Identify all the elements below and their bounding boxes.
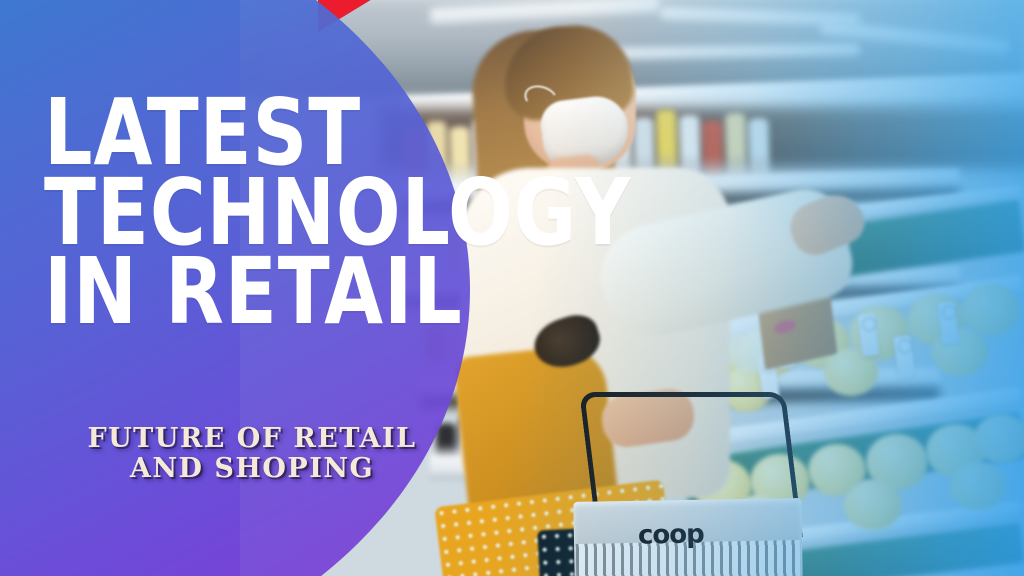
fruit bbox=[844, 480, 902, 530]
price-tag bbox=[893, 335, 916, 379]
basket-brand-label: coop bbox=[638, 519, 704, 550]
gradient-panel-blob bbox=[0, 0, 470, 576]
fruit bbox=[974, 414, 1024, 464]
shopping-basket: coop bbox=[566, 382, 816, 576]
fruit bbox=[962, 284, 1020, 336]
fruit bbox=[932, 328, 988, 376]
video-thumbnail: coop LATEST TECHNOLOGY IN RETAIL FUTURE … bbox=[0, 0, 1024, 576]
fruit bbox=[950, 462, 1006, 510]
